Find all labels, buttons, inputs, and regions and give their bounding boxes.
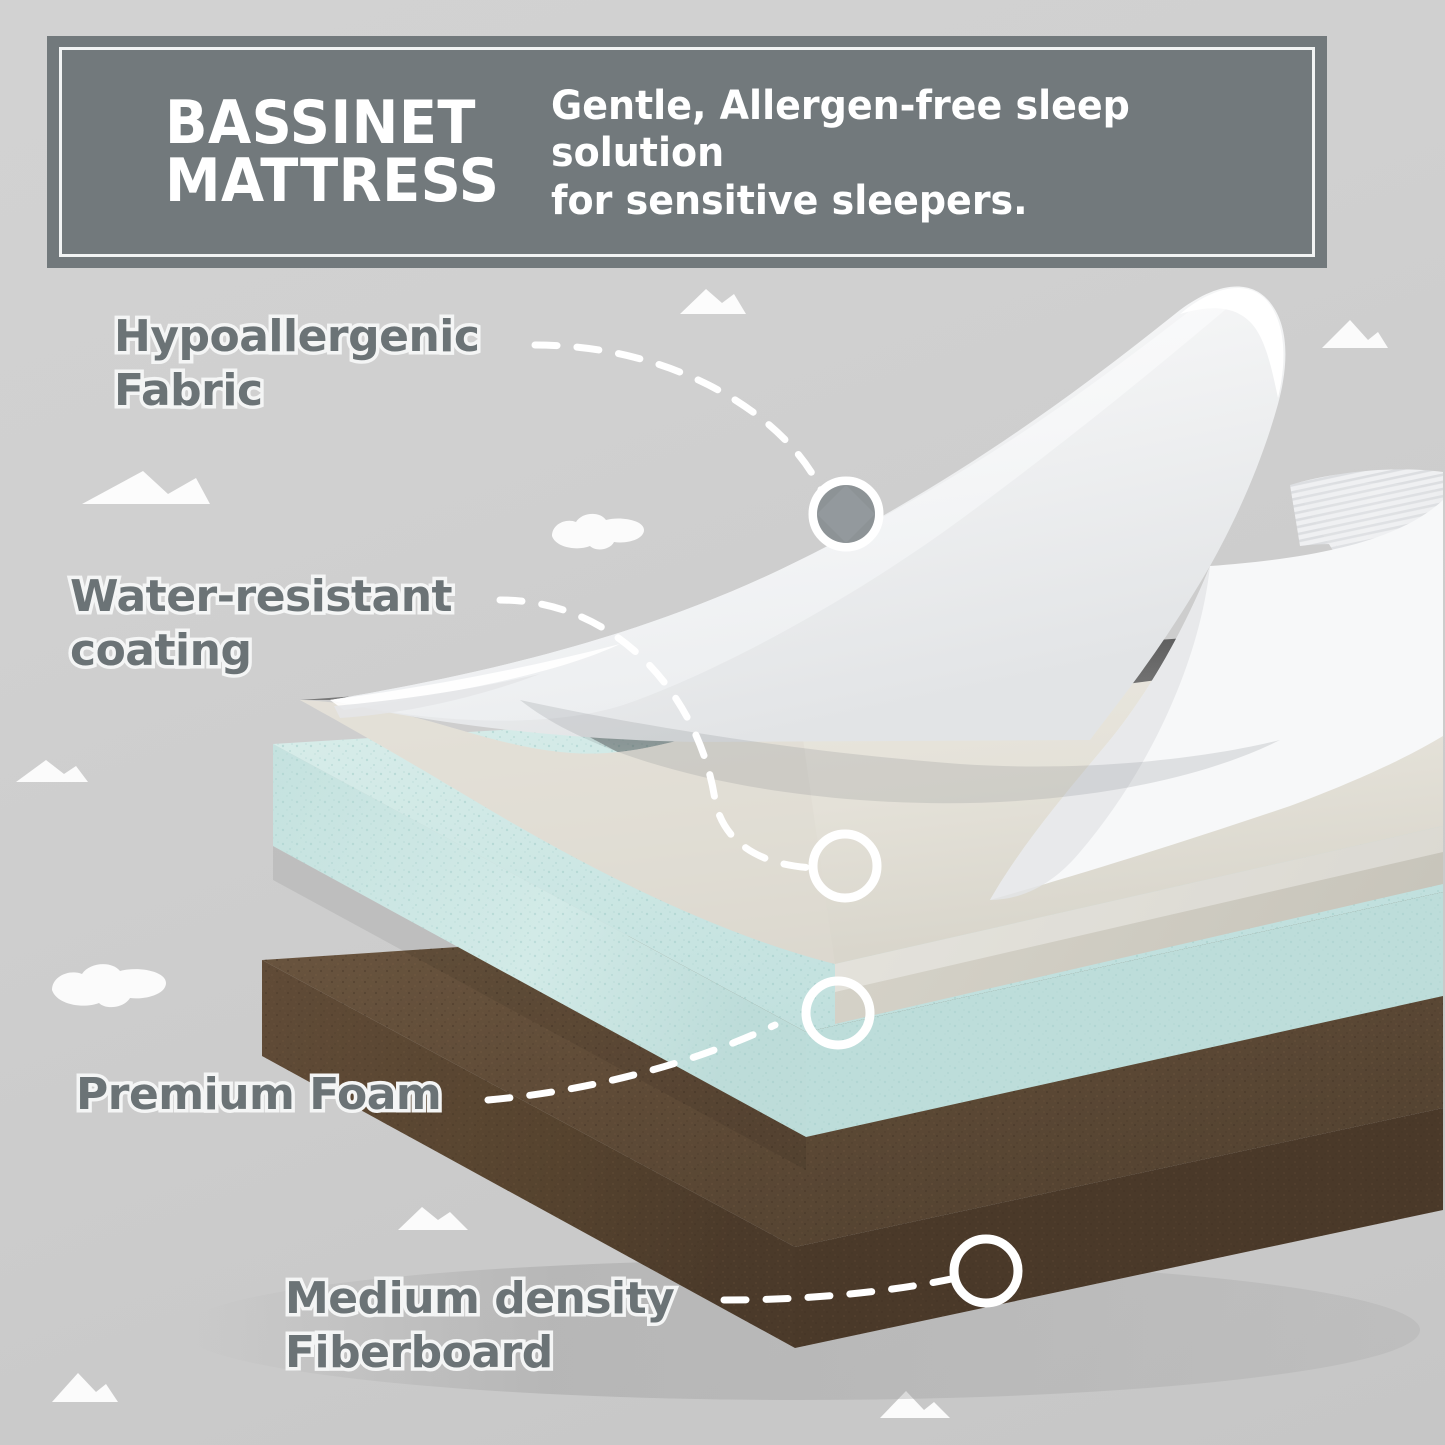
callout-label-hypoallergenic-fabric: Hypoallergenic Fabric: [114, 310, 479, 417]
callout-marker-hypoallergenic-fabric: [813, 481, 879, 547]
fabric-ribbed-underside-2: [1296, 483, 1443, 700]
connector-medium-density-fiberboard: [724, 1278, 956, 1300]
page-subtitle: Gentle, Allergen-free sleep solution for…: [551, 79, 1251, 225]
fabric-cast-shadow: [520, 700, 1280, 803]
callout-label-water-resistant-coating: Water-resistant coating: [70, 570, 452, 677]
mountain-icon: [398, 1207, 468, 1230]
header-content: BASSINET MATTRESS Gentle, Allergen-free …: [47, 36, 1327, 268]
page-title: BASSINET MATTRESS: [165, 94, 499, 210]
premium-foam-layer: [273, 672, 1443, 1170]
callout-marker-medium-density-fiberboard: [954, 1239, 1018, 1303]
premium-foam-right-edge: [806, 892, 1443, 1137]
fabric-right-drape-shade: [990, 566, 1210, 900]
premium-foam-top-texture: [273, 672, 1443, 1032]
coating-underside-shadow: [300, 620, 1443, 860]
fabric-ribbed-underside-lines: [1296, 483, 1443, 700]
premium-foam-right-texture: [806, 892, 1443, 1137]
fiberboard-right-texture: [795, 1108, 1443, 1348]
cloud-icon: [552, 514, 644, 550]
mountain-icon: [1322, 320, 1388, 348]
mountain-icon: [52, 1373, 118, 1402]
fabric-right-drape: [990, 500, 1443, 900]
mountain-icon: [16, 760, 88, 782]
callout-label-medium-density-fiberboard: Medium density Fiberboard: [285, 1272, 674, 1379]
connector-premium-foam: [488, 1025, 775, 1100]
hypoallergenic-fabric-layer: [330, 287, 1443, 900]
infographic-canvas: Hypoallergenic Fabric Water-resistant co…: [0, 0, 1445, 1445]
fiberboard-top: [262, 882, 1443, 1247]
premium-foam-top: [273, 672, 1443, 1032]
coating-front-edge: [300, 700, 835, 964]
coating-top: [300, 640, 1443, 964]
mountain-icon: [880, 1391, 950, 1418]
coating-bottom-sheen: [835, 826, 1443, 992]
callout-label-premium-foam: Premium Foam: [76, 1068, 441, 1122]
coating-right-edge: [835, 826, 1443, 1024]
fiberboard-right-edge: [795, 1108, 1443, 1348]
callout-marker-water-resistant-coating: [813, 834, 877, 898]
header-banner: BASSINET MATTRESS Gentle, Allergen-free …: [47, 36, 1327, 268]
fiberboard-top-texture: [262, 882, 1443, 1247]
fabric-ribbed-underside: [1290, 469, 1443, 560]
connector-hypoallergenic-fabric: [535, 345, 822, 492]
connector-water-resistant-coating: [500, 600, 816, 868]
cloud-icon: [52, 964, 166, 1007]
callout-marker-premium-foam: [806, 981, 870, 1045]
mountain-icon: [680, 289, 746, 314]
mountain-icon: [82, 471, 210, 504]
fabric-left-tip: [334, 674, 540, 718]
fabric-crest-highlight: [1180, 288, 1283, 398]
coating-layer: [300, 620, 1443, 1024]
